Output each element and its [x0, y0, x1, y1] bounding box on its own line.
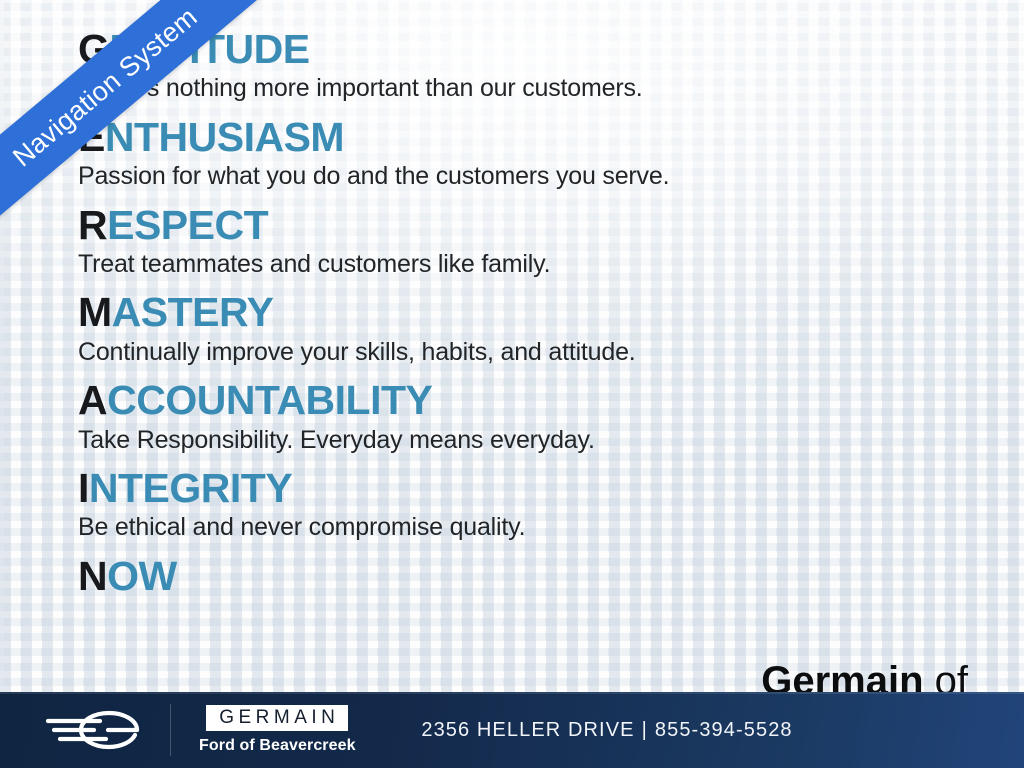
value-item-gratitude: GRATITUDE There's nothing more important…: [78, 26, 978, 105]
value-title: INTEGRITY: [78, 465, 978, 511]
dealer-footer-bar: GERMAIN Ford of Beavercreek 2356 HELLER …: [0, 692, 1024, 768]
value-item-integrity: INTEGRITY Be ethical and never compromis…: [78, 465, 978, 544]
value-item-mastery: MASTERY Continually improve your skills,…: [78, 289, 978, 368]
footer-phone[interactable]: 855-394-5528: [655, 719, 793, 741]
value-description: Continually improve your skills, habits,…: [78, 336, 978, 369]
value-title-rest: ASTERY: [112, 289, 274, 335]
footer-address: 2356 HELLER DRIVE: [421, 719, 634, 741]
value-item-accountability: ACCOUNTABILITY Take Responsibility. Ever…: [78, 377, 978, 456]
value-description: Be ethical and never compromise quality.: [78, 511, 978, 544]
value-item-respect: RESPECT Treat teammates and customers li…: [78, 202, 978, 281]
value-title: NOW: [78, 553, 978, 599]
value-title: ENTHUSIASM: [78, 114, 978, 160]
value-item-now: NOW: [78, 553, 978, 599]
value-title-rest: CCOUNTABILITY: [107, 377, 432, 423]
value-description: Passion for what you do and the customer…: [78, 160, 978, 193]
slide-canvas: GRATITUDE There's nothing more important…: [0, 0, 1024, 768]
value-initial: R: [78, 202, 107, 248]
value-title: ACCOUNTABILITY: [78, 377, 978, 423]
footer-contact-info: 2356 HELLER DRIVE|855-394-5528: [0, 719, 1024, 742]
value-description: Treat teammates and customers like famil…: [78, 248, 978, 281]
value-initial: N: [78, 553, 107, 599]
value-title: MASTERY: [78, 289, 978, 335]
value-description: There's nothing more important than our …: [78, 72, 978, 105]
value-item-enthusiasm: ENTHUSIASM Passion for what you do and t…: [78, 114, 978, 193]
value-title-rest: NTHUSIASM: [105, 114, 344, 160]
core-values-list: GRATITUDE There's nothing more important…: [78, 26, 978, 608]
value-title-rest: OW: [107, 553, 177, 599]
value-initial: A: [78, 377, 107, 423]
footer-separator: |: [635, 719, 655, 741]
value-initial: I: [78, 465, 89, 511]
value-title-rest: NTEGRITY: [89, 465, 292, 511]
value-title: RESPECT: [78, 202, 978, 248]
footer-top-hairline: [0, 692, 1024, 694]
value-initial: M: [78, 289, 112, 335]
value-description: Take Responsibility. Everyday means ever…: [78, 424, 978, 457]
value-title-rest: ESPECT: [107, 202, 268, 248]
